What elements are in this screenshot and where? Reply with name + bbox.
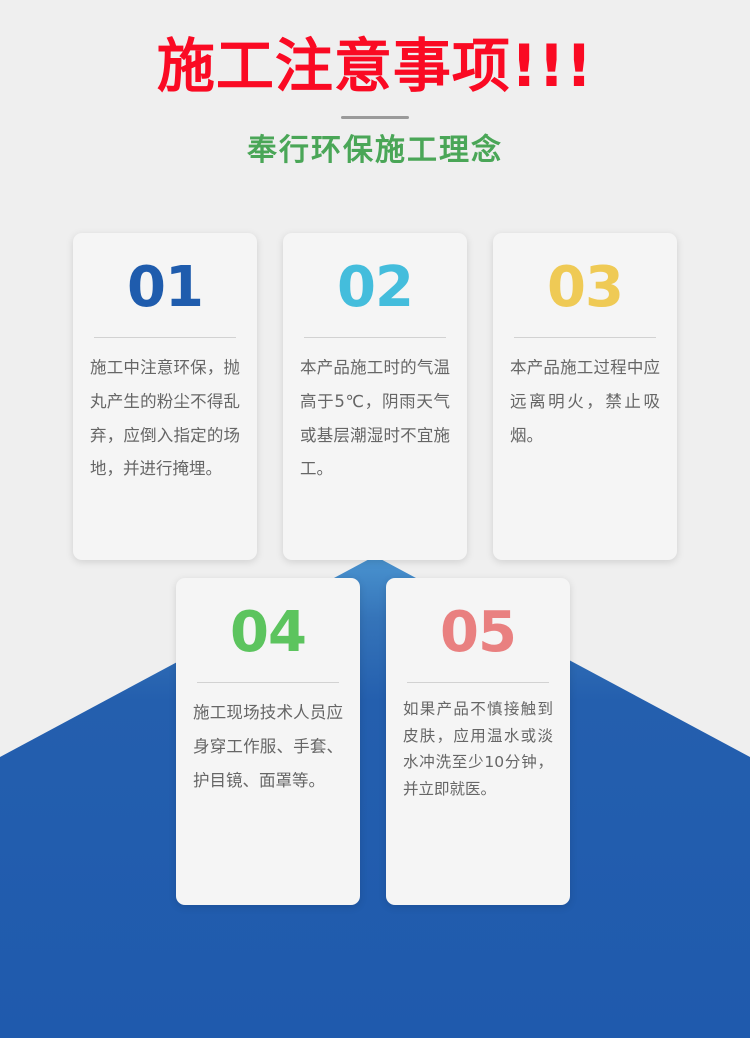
notice-card-01: 01 施工中注意环保，抛丸产生的粉尘不得乱弃，应倒入指定的场地，并进行掩埋。: [73, 233, 257, 560]
card-body-05: 如果产品不慎接触到皮肤，应用温水或淡水冲洗至少10分钟，并立即就医。: [403, 683, 553, 803]
page-title: 施工注意事项!!!: [0, 0, 750, 99]
card-body-02: 本产品施工时的气温高于5℃，阴雨天气或基层潮湿时不宜施工。: [300, 338, 450, 486]
card-body-04: 施工现场技术人员应身穿工作服、手套、护目镜、面罩等。: [193, 683, 343, 797]
notice-card-04: 04 施工现场技术人员应身穿工作服、手套、护目镜、面罩等。: [176, 578, 360, 905]
card-number-01: 01: [90, 233, 240, 316]
notice-card-02: 02 本产品施工时的气温高于5℃，阴雨天气或基层潮湿时不宜施工。: [283, 233, 467, 560]
card-body-03: 本产品施工过程中应远离明火，禁止吸烟。: [510, 338, 660, 452]
card-number-04: 04: [193, 578, 343, 661]
page-subtitle: 奉行环保施工理念: [0, 119, 750, 170]
page-header: 施工注意事项!!! 奉行环保施工理念: [0, 0, 750, 170]
card-body-01: 施工中注意环保，抛丸产生的粉尘不得乱弃，应倒入指定的场地，并进行掩埋。: [90, 338, 240, 486]
card-number-05: 05: [403, 578, 553, 661]
card-number-03: 03: [510, 233, 660, 316]
notice-card-03: 03 本产品施工过程中应远离明火，禁止吸烟。: [493, 233, 677, 560]
notice-card-05: 05 如果产品不慎接触到皮肤，应用温水或淡水冲洗至少10分钟，并立即就医。: [386, 578, 570, 905]
card-number-02: 02: [300, 233, 450, 316]
page-root: 施工注意事项!!! 奉行环保施工理念 01 施工中注意环保，抛丸产生的粉尘不得乱…: [0, 0, 750, 1038]
